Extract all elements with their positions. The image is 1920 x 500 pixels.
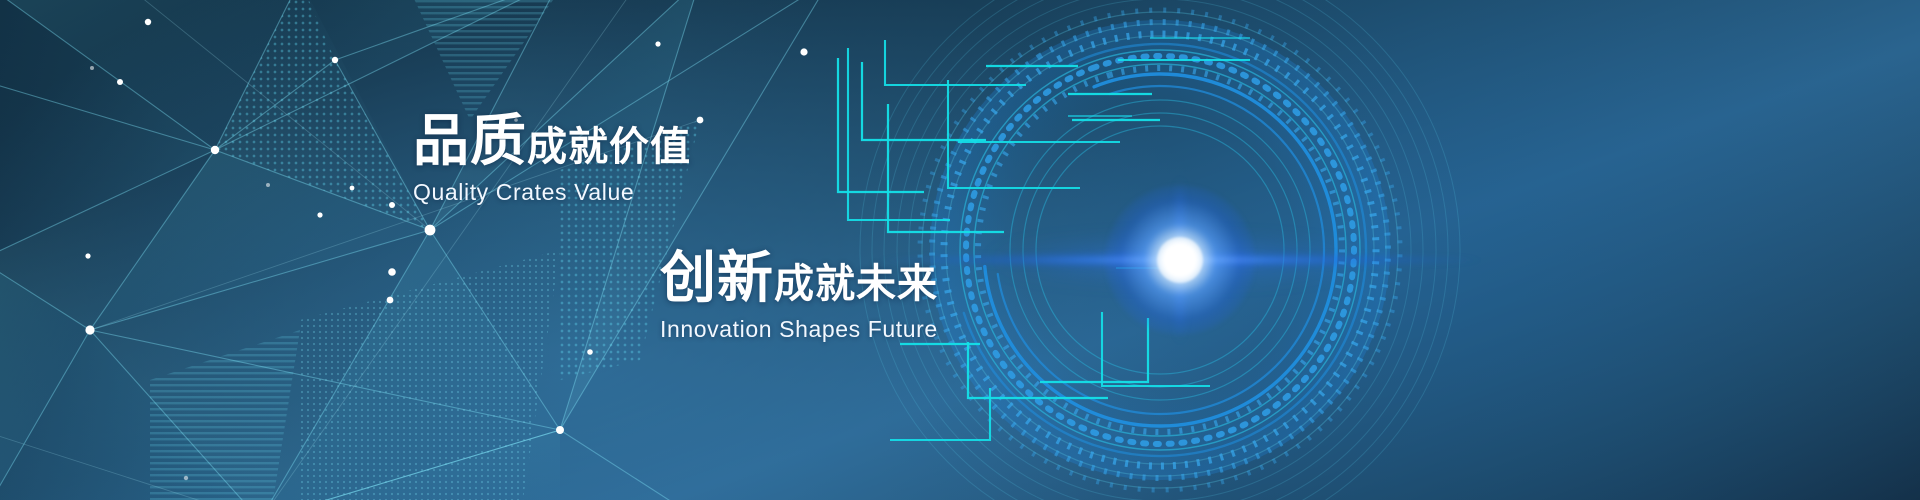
tagline-innovation-english: Innovation Shapes Future: [660, 316, 938, 343]
tagline-innovation-chinese-emphasis: 创新: [660, 246, 774, 309]
tagline-innovation-chinese-rest: 成就未来: [774, 262, 938, 306]
tagline-quality-chinese-rest: 成就价值: [527, 125, 691, 169]
tagline-quality: 品质成就价值 Quality Crates Value: [413, 113, 691, 206]
hero-banner: 品质成就价值 Quality Crates Value 创新成就未来 Innov…: [0, 0, 1920, 500]
hud-circuit-lines-outer: [0, 0, 1920, 500]
tagline-quality-chinese-emphasis: 品质: [413, 109, 527, 172]
tagline-quality-english: Quality Crates Value: [413, 179, 691, 206]
tagline-innovation: 创新成就未来 Innovation Shapes Future: [660, 250, 938, 343]
tagline-innovation-chinese: 创新成就未来: [660, 250, 938, 306]
tagline-quality-chinese: 品质成就价值: [413, 113, 691, 169]
